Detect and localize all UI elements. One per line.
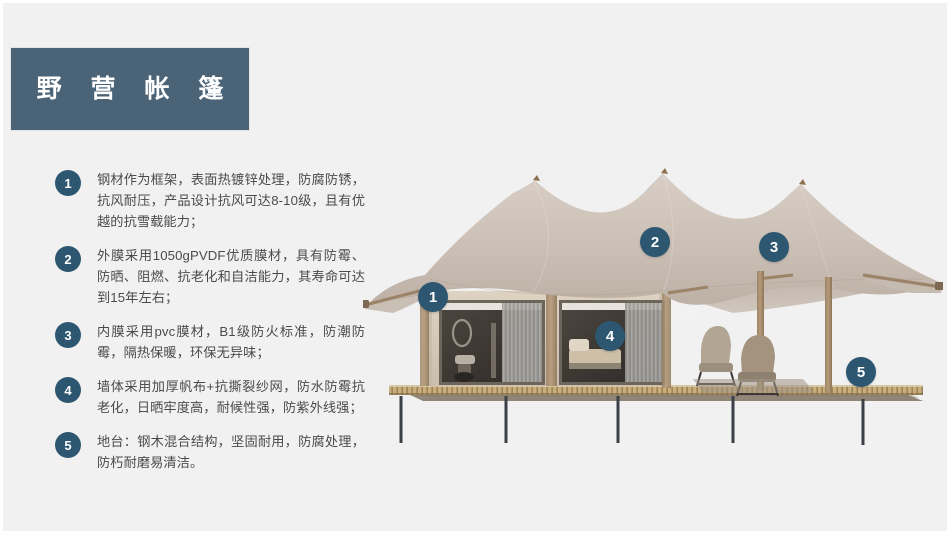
feature-item-2: 2 外膜采用1050gPVDF优质膜材，具有防霉、防晒、阻燃、抗老化和自洁能力，… (55, 245, 365, 308)
frame-post-right (662, 293, 671, 388)
window-left (439, 300, 545, 385)
feature-item-5: 5 地台：钢木混合结构，坚固耐用，防腐处理，防朽耐磨易清洁。 (55, 431, 365, 473)
feature-badge-2: 2 (55, 246, 81, 272)
feature-badge-5: 5 (55, 432, 81, 458)
peak-tip-center (661, 168, 668, 174)
feature-text-3: 内膜采用pvc膜材，B1级防火标准，防潮防霉，隔热保暖，环保无异味； (97, 321, 365, 363)
frame-post-center (546, 293, 557, 386)
feature-text-2: 外膜采用1050gPVDF优质膜材，具有防霉、防晒、阻燃、抗老化和自洁能力，其寿… (97, 245, 365, 308)
feature-item-3: 3 内膜采用pvc膜材，B1级防火标准，防潮防霉，隔热保暖，环保无异味； (55, 321, 365, 363)
slide-root: 野 营 帐 篷 1 钢材作为框架，表面热镀锌处理，防腐防锈，抗风耐压，产品设计抗… (0, 0, 950, 534)
deck-legs (401, 396, 863, 445)
outdoor-furniture (693, 326, 815, 396)
peak-tip-left (533, 175, 540, 181)
feature-text-4: 墙体采用加厚帆布+抗撕裂纱网，防水防霉抗老化，日晒牢度高，耐候性强，防紫外线强； (97, 376, 365, 418)
feature-text-1: 钢材作为框架，表面热镀锌处理，防腐防锈，抗风耐压，产品设计抗风可达8-10级，且… (97, 169, 365, 232)
feature-badge-3: 3 (55, 322, 81, 348)
feature-badge-1: 1 (55, 170, 81, 196)
porch-post-right (825, 277, 832, 393)
camping-tent-illustration: 野 测 器 居 (363, 153, 943, 463)
callout-badge-5[interactable]: 5 (846, 357, 876, 387)
peak-tip-right (799, 179, 806, 185)
feature-item-1: 1 钢材作为框架，表面热镀锌处理，防腐防锈，抗风耐压，产品设计抗风可达8-10级… (55, 169, 365, 232)
page-title: 野 营 帐 篷 (26, 77, 235, 102)
title-banner: 野 营 帐 篷 (11, 48, 249, 130)
callout-badge-4[interactable]: 4 (595, 321, 625, 351)
feature-text-5: 地台：钢木混合结构，坚固耐用，防腐处理，防朽耐磨易清洁。 (97, 431, 365, 473)
feature-list: 1 钢材作为框架，表面热镀锌处理，防腐防锈，抗风耐压，产品设计抗风可达8-10级… (55, 169, 365, 486)
feature-item-4: 4 墙体采用加厚帆布+抗撕裂纱网，防水防霉抗老化，日晒牢度高，耐候性强，防紫外线… (55, 376, 365, 418)
callout-badge-2[interactable]: 2 (640, 227, 670, 257)
tent-graphic: 野 测 器 居 (363, 153, 943, 463)
feature-badge-4: 4 (55, 377, 81, 403)
callout-badge-3[interactable]: 3 (759, 232, 789, 262)
callout-badge-1[interactable]: 1 (418, 282, 448, 312)
